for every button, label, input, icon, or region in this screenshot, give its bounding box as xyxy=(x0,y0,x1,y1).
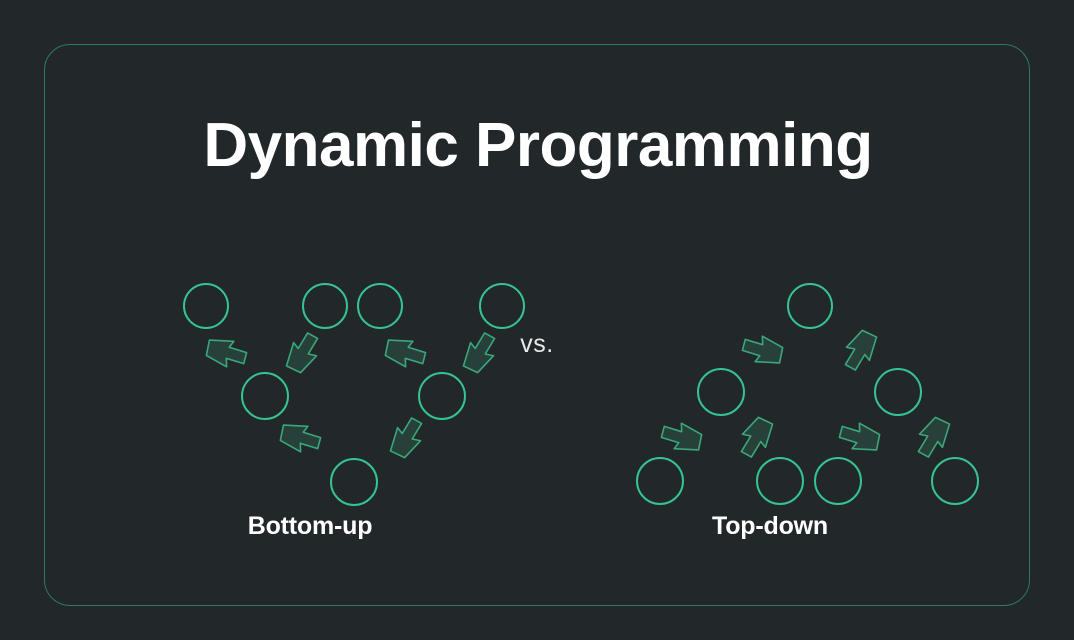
tree-node xyxy=(698,369,744,415)
slide-canvas: Dynamic Programming vs. Bottom-up Top-do… xyxy=(0,0,1074,640)
tree-edge-arrow xyxy=(275,414,325,462)
tree-edge-arrow xyxy=(731,413,781,461)
tree-node xyxy=(303,284,347,328)
page-title: Dynamic Programming xyxy=(45,115,1031,177)
tree-node xyxy=(932,458,978,504)
tree-edge-arrow xyxy=(835,413,885,461)
tree-node xyxy=(757,458,803,504)
tree-bottom-up xyxy=(184,284,524,505)
tree-node xyxy=(815,458,861,504)
tree-edge-arrow xyxy=(382,414,432,462)
tree-node xyxy=(788,284,832,328)
tree-node xyxy=(637,458,683,504)
tree-node xyxy=(331,459,377,505)
tree-node xyxy=(184,284,228,328)
tree-node xyxy=(242,373,288,419)
tree-node xyxy=(358,284,402,328)
caption-top-down: Top-down xyxy=(620,512,920,541)
caption-bottom-up: Bottom-up xyxy=(160,512,460,541)
tree-edge-arrow xyxy=(657,413,707,461)
tree-edge-arrow xyxy=(908,413,958,461)
tree-node xyxy=(875,369,921,415)
tree-node xyxy=(480,284,524,328)
tree-top-down xyxy=(637,284,978,504)
tree-node xyxy=(419,373,465,419)
versus-label: vs. xyxy=(0,330,1074,359)
